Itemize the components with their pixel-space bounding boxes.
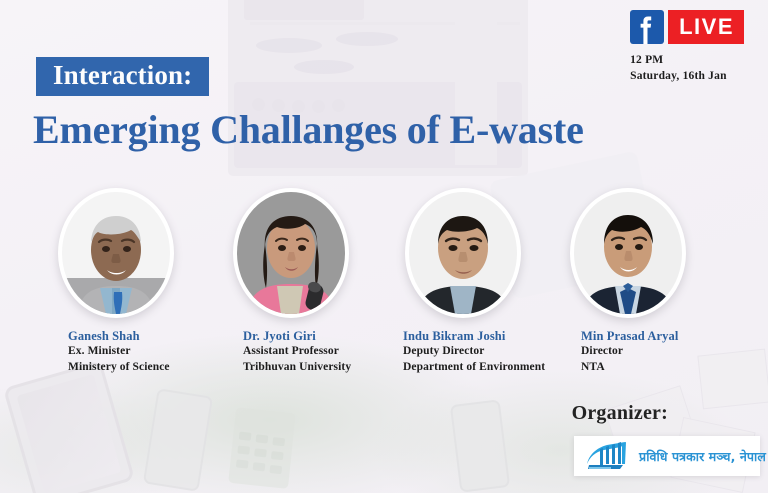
ppmn-logo-icon: [584, 441, 630, 471]
speaker-name: Indu Bikram Joshi: [403, 329, 545, 344]
page-title: Emerging Challanges of E-waste: [33, 106, 584, 153]
background-burner: [336, 32, 398, 46]
interaction-badge: Interaction:: [36, 57, 209, 96]
organizer-name: प्रविधि पत्रकार मञ्च, नेपाल: [639, 448, 766, 465]
speaker-org: Department of Environment: [403, 360, 545, 376]
speaker-photo-ring: [58, 188, 174, 318]
organizer-logo-bar[interactable]: प्रविधि पत्रकार मञ्च, नेपाल: [574, 436, 760, 476]
speaker-org: Tribhuvan University: [243, 360, 351, 376]
event-poster: LIVE 12 PM Saturday, 16th Jan Interactio…: [0, 0, 768, 493]
background-keypad: [228, 407, 296, 489]
facebook-live-block: LIVE 12 PM Saturday, 16th Jan: [630, 10, 744, 85]
speaker-photo-ring: [233, 188, 349, 318]
speaker-photo-jyoti-giri: [237, 192, 345, 314]
organizer-label: Organizer:: [572, 402, 668, 425]
speaker-photo-indu-bikram-joshi: [409, 192, 517, 314]
live-badge: LIVE: [668, 10, 744, 44]
background-phone: [450, 399, 510, 492]
speaker-photo-min-prasad-aryal: [574, 192, 682, 314]
speaker-card-3: Indu Bikram Joshi Deputy Director Depart…: [405, 188, 545, 376]
speaker-photo-ring: [405, 188, 521, 318]
speaker-org: Ministery of Science: [68, 360, 174, 376]
live-schedule: 12 PM Saturday, 16th Jan: [630, 52, 744, 85]
speaker-photo-ring: [570, 188, 686, 318]
speaker-card-1: Ganesh Shah Ex. Minister Ministery of Sc…: [58, 188, 174, 376]
speaker-role: Ex. Minister: [68, 344, 174, 360]
speaker-name: Ganesh Shah: [68, 329, 174, 344]
live-time: 12 PM: [630, 52, 744, 68]
speaker-role: Deputy Director: [403, 344, 545, 360]
speaker-card-2: Dr. Jyoti Giri Assistant Professor Tribh…: [233, 188, 351, 376]
background-paper: [697, 349, 768, 410]
background-burner: [256, 38, 322, 53]
speaker-photo-ganesh-shah: [62, 192, 170, 314]
background-burner: [294, 60, 354, 74]
speaker-name: Min Prasad Aryal: [581, 329, 686, 344]
speaker-role: Director: [581, 344, 686, 360]
speaker-card-4: Min Prasad Aryal Director NTA: [570, 188, 686, 376]
speaker-role: Assistant Professor: [243, 344, 351, 360]
facebook-f-icon[interactable]: [630, 10, 664, 44]
live-date: Saturday, 16th Jan: [630, 68, 744, 84]
speaker-name: Dr. Jyoti Giri: [243, 329, 351, 344]
speaker-org: NTA: [581, 360, 686, 376]
